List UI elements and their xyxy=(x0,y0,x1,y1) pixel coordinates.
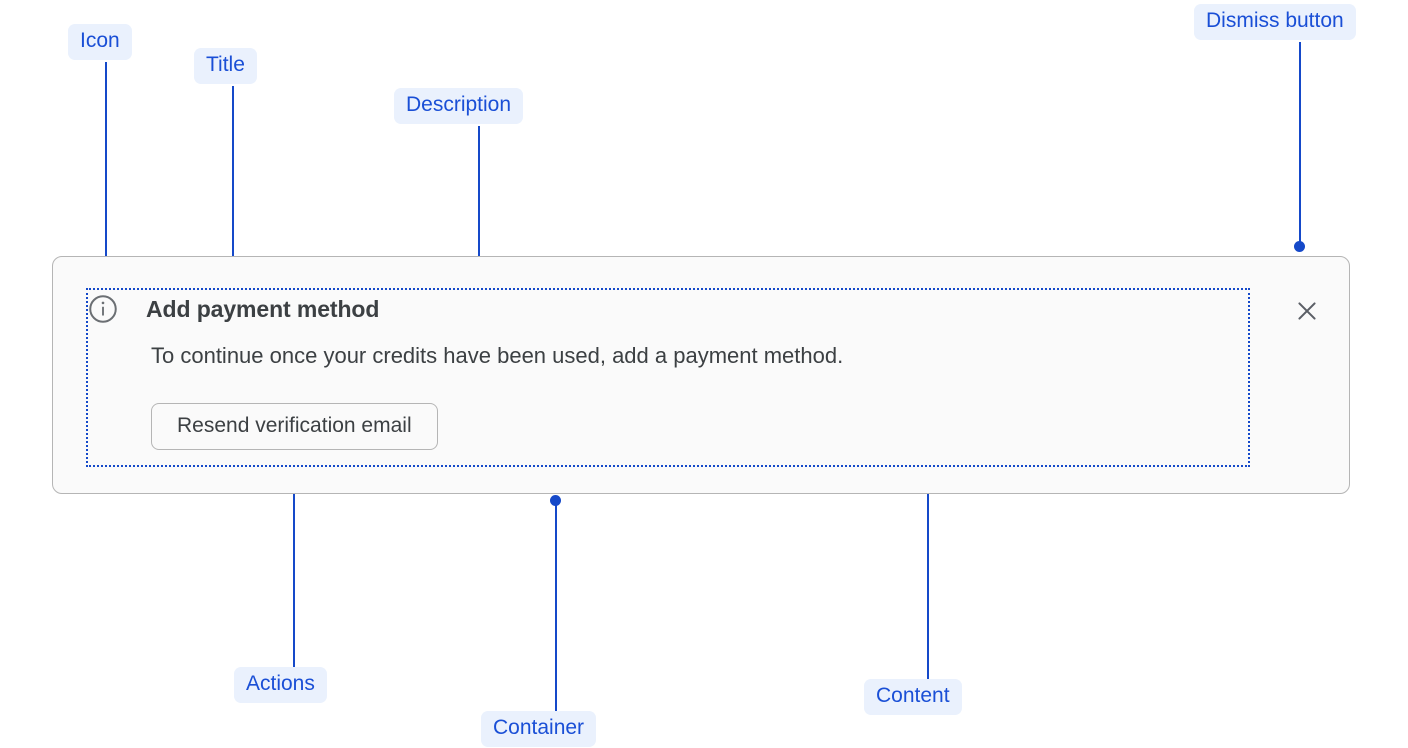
info-circle-icon xyxy=(88,294,118,324)
annotation-leader-content xyxy=(927,471,929,679)
close-icon xyxy=(1294,298,1320,324)
annotation-label-content: Content xyxy=(864,679,962,715)
resend-verification-email-button[interactable]: Resend verification email xyxy=(151,403,438,450)
annotation-label-icon: Icon xyxy=(68,24,132,60)
alert-content: Add payment method To continue once your… xyxy=(86,288,1250,467)
dismiss-button[interactable] xyxy=(1290,294,1324,328)
annotation-label-description: Description xyxy=(394,88,523,124)
alert-container: Add payment method To continue once your… xyxy=(52,256,1350,494)
annotation-leader-container xyxy=(555,504,557,711)
annotation-label-dismiss: Dismiss button xyxy=(1194,4,1356,40)
annotation-leader-dismiss xyxy=(1299,42,1301,248)
alert-description: To continue once your credits have been … xyxy=(151,343,843,369)
annotation-label-container: Container xyxy=(481,711,596,747)
alert-actions: Resend verification email xyxy=(151,403,438,450)
alert-title: Add payment method xyxy=(146,296,379,323)
annotation-dot-container xyxy=(550,495,561,506)
annotation-leader-icon xyxy=(105,62,107,272)
annotation-dot-dismiss xyxy=(1294,241,1305,252)
alert-header-row: Add payment method xyxy=(88,294,379,324)
annotation-label-title: Title xyxy=(194,48,257,84)
annotation-label-actions: Actions xyxy=(234,667,327,703)
